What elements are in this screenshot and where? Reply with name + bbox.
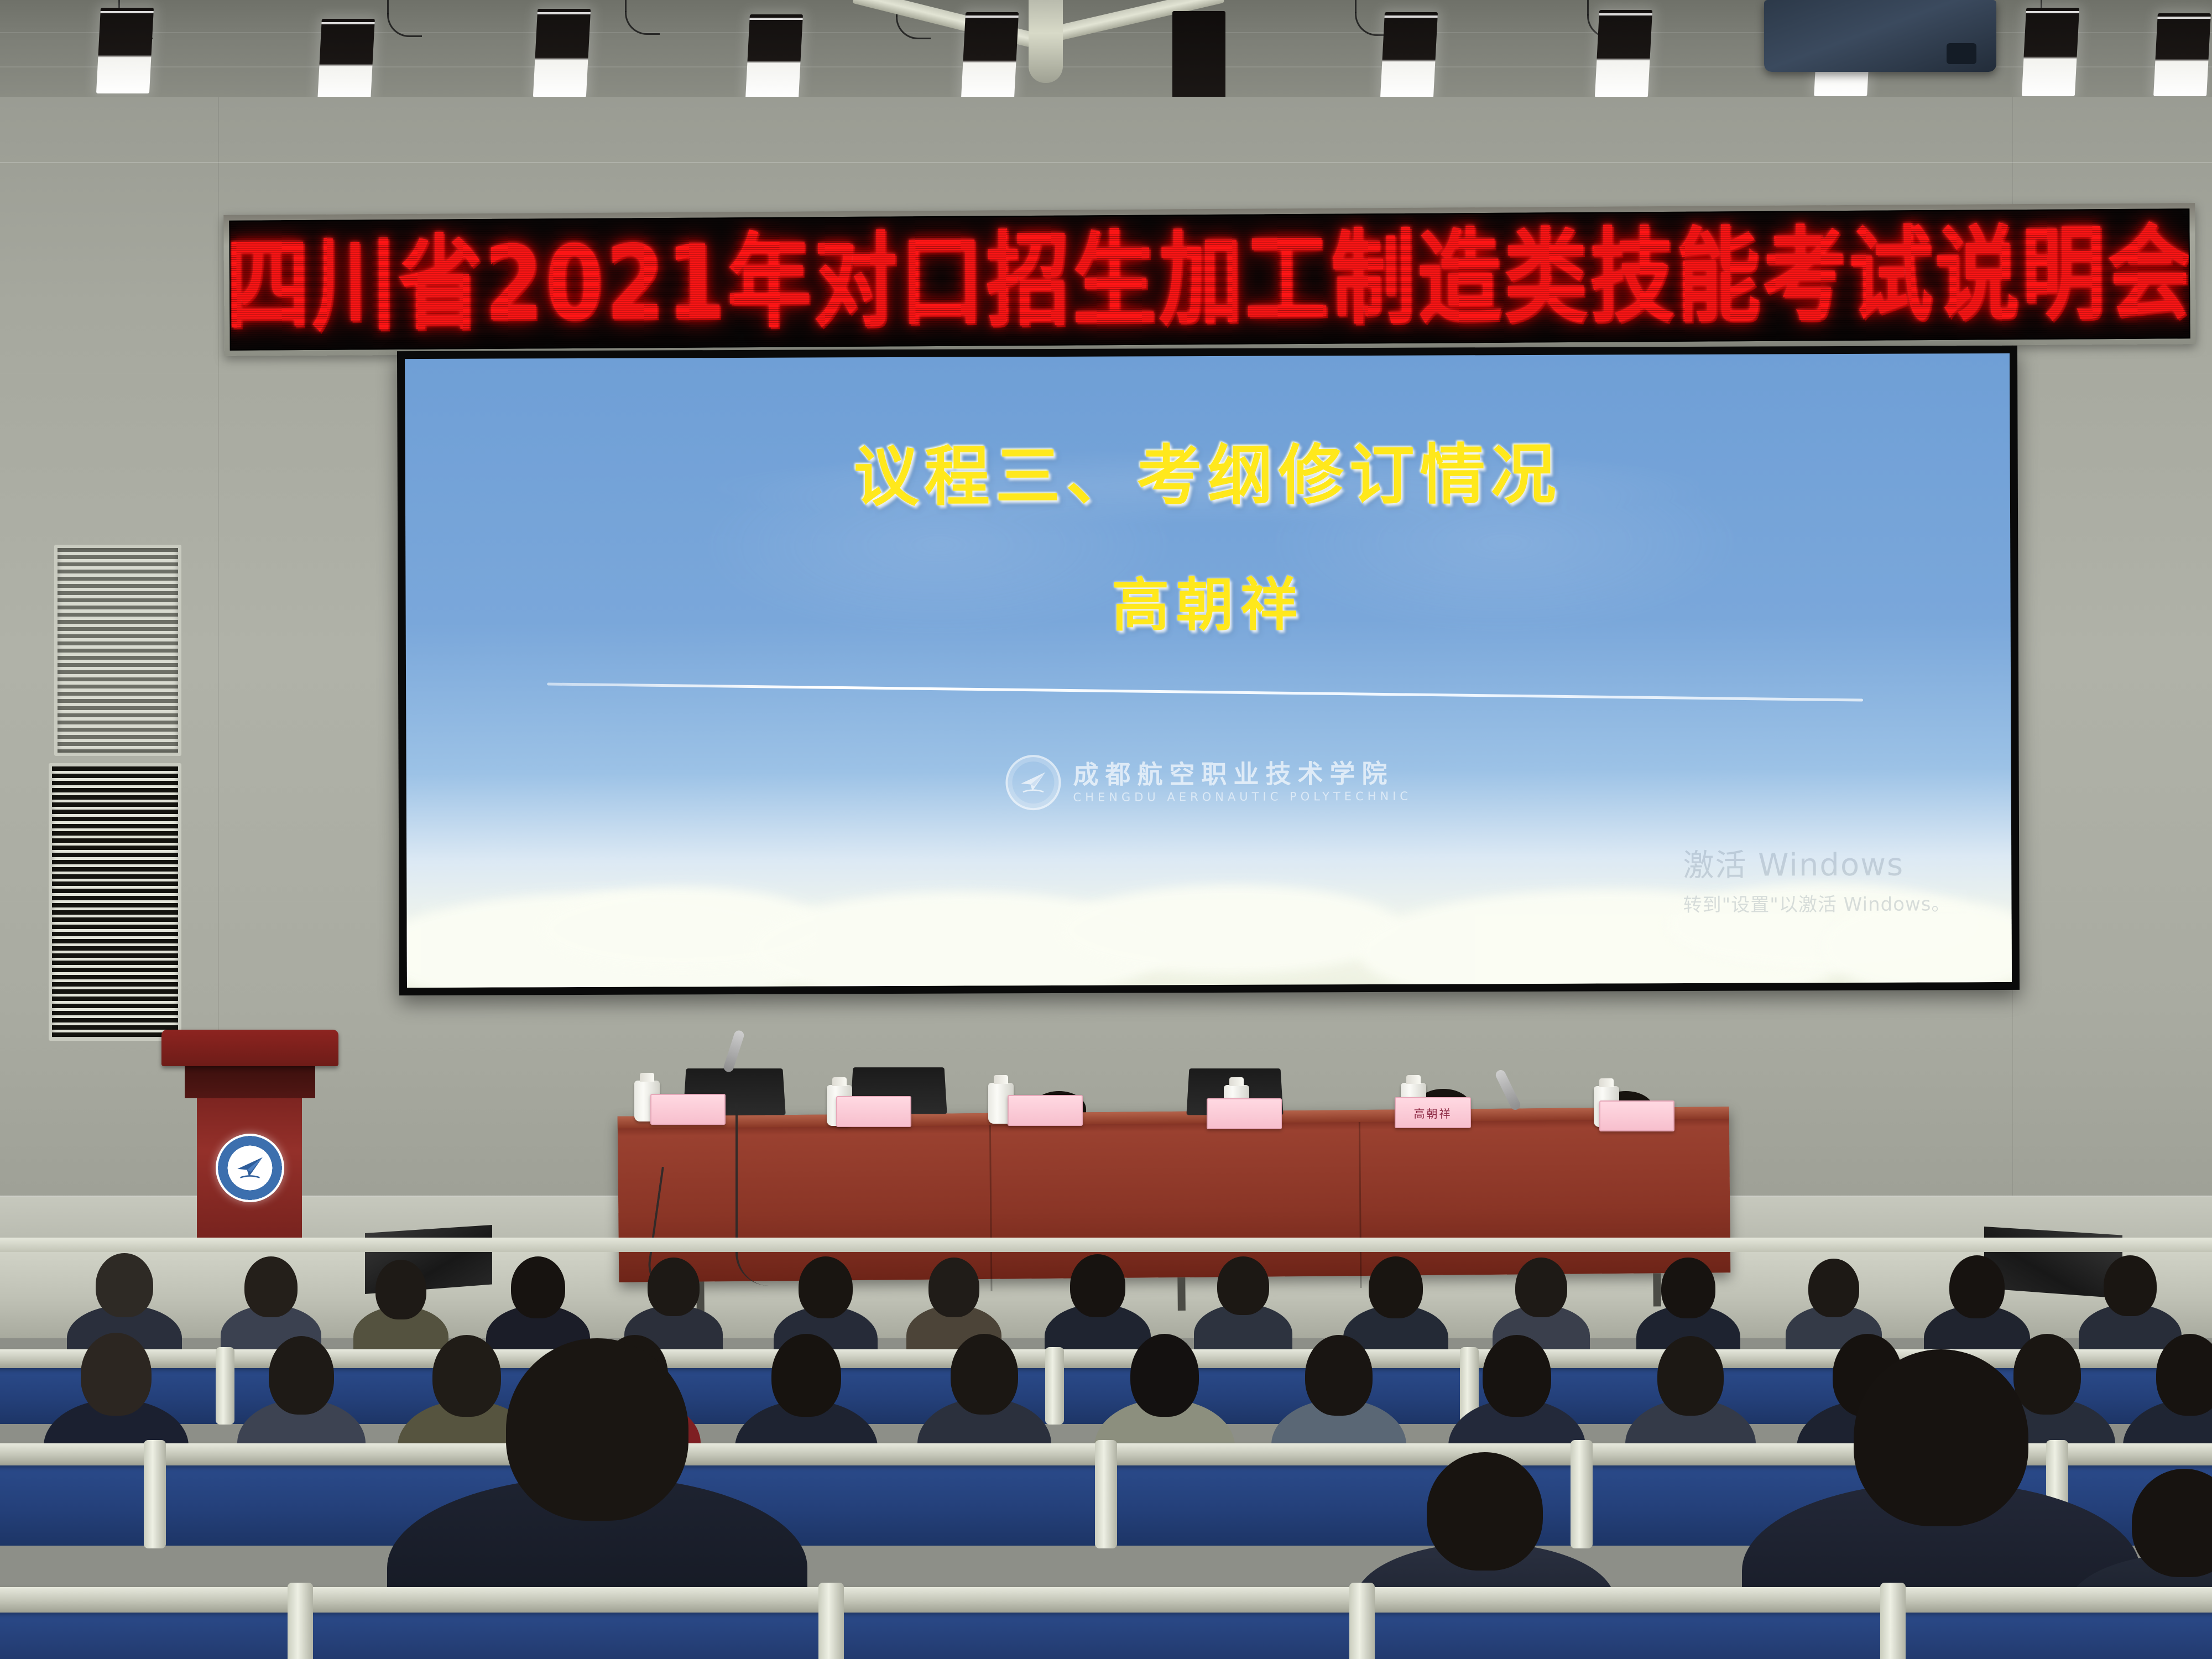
name-placard	[1599, 1100, 1674, 1131]
seat-row-nearest	[0, 1587, 2212, 1659]
seat-divider-post	[818, 1583, 844, 1659]
logo-english-name: CHENGDU AERONAUTIC POLYTECHNIC	[1073, 790, 1412, 803]
led-banner: 四川省2021年对口招生加工制造类技能考试说明会	[223, 203, 2195, 356]
ceiling-light-fixture	[533, 9, 591, 97]
name-placard	[650, 1094, 726, 1125]
ceiling-light-fixture	[2022, 8, 2079, 96]
ceiling-light-fixture	[96, 8, 154, 93]
windows-activation-watermark: 激活 Windows 转到"设置"以激活 Windows。	[1683, 839, 1950, 917]
seat-divider-post	[216, 1347, 234, 1425]
podium-neck	[185, 1064, 315, 1098]
ceiling-light-fixture	[317, 19, 375, 97]
audience-area	[0, 1206, 2212, 1659]
ceiling-light-fixture	[745, 14, 803, 97]
auditorium-scene: 四川省2021年对口招生加工制造类技能考试说明会 议程三、考纲修订情况 高朝祥	[0, 0, 2212, 1659]
ceiling-light-fixture	[1595, 10, 1652, 97]
name-placard	[1008, 1095, 1083, 1126]
slide-title: 议程三、考纲修订情况	[405, 420, 2010, 520]
projection-screen-frame: 议程三、考纲修订情况 高朝祥 成都航空职业技术学院 CHENGDU AERONA…	[397, 346, 2020, 995]
name-placard-gao: 高朝祥	[1395, 1097, 1471, 1128]
slide-institution-logo: 成都航空职业技术学院 CHENGDU AERONAUTIC POLYTECHNI…	[1005, 754, 1412, 811]
ceiling-light-fixture	[1380, 12, 1438, 97]
watermark-line-1: 激活 Windows	[1683, 839, 1950, 885]
name-placard	[1207, 1098, 1282, 1129]
ceiling	[0, 0, 2212, 97]
led-screen: 四川省2021年对口招生加工制造类技能考试说明会	[229, 208, 2190, 351]
ceiling-fan-hub	[1029, 0, 1063, 83]
seat-divider-post	[288, 1583, 313, 1659]
ceiling-projector	[1764, 0, 1996, 72]
watermark-line-2: 转到"设置"以激活 Windows。	[1683, 889, 1951, 917]
presentation-slide: 议程三、考纲修订情况 高朝祥 成都航空职业技术学院 CHENGDU AERONA…	[405, 353, 2012, 988]
paper-plane-seal-icon	[1005, 755, 1061, 810]
podium-top-surface	[161, 1030, 338, 1066]
projector-lens	[1947, 43, 1976, 64]
ceiling-light-fixture	[961, 12, 1019, 97]
podium-emblem-paper-plane-icon	[216, 1134, 284, 1202]
ceiling-light-fixture-off	[1172, 11, 1225, 97]
seat-divider-post	[1095, 1440, 1117, 1548]
air-vent-lower	[49, 763, 181, 1041]
logo-chinese-name: 成都航空职业技术学院	[1073, 760, 1412, 787]
slide-presenter-name: 高朝祥	[405, 555, 2011, 644]
led-banner-text: 四川省2021年对口招生加工制造类技能考试说明会	[229, 222, 2190, 337]
seat-divider-post	[1349, 1583, 1375, 1659]
seat-divider-post	[144, 1440, 166, 1548]
air-vent-upper	[54, 545, 181, 756]
stage-front-edge	[0, 1238, 2212, 1252]
seat-divider-post	[1880, 1583, 1906, 1659]
ceiling-light-fixture	[2153, 13, 2211, 96]
